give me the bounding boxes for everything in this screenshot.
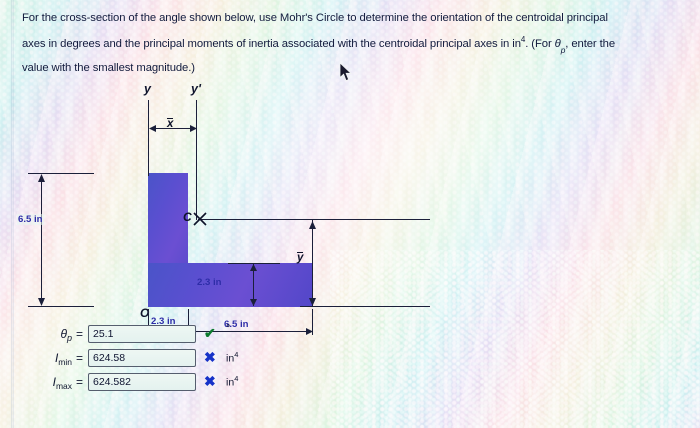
equals-sign-theta: = xyxy=(76,327,83,341)
flange-thickness-arrows xyxy=(247,263,260,307)
i-min-subscript: min xyxy=(58,357,72,367)
mouse-cursor-icon xyxy=(339,62,353,82)
theta-p-correct-icon: ✔ xyxy=(204,324,216,343)
i-max-unit-text: in xyxy=(226,377,234,389)
screenshot-root: For the cross-section of the angle shown… xyxy=(0,0,700,428)
question-line-2-text-b: . (For xyxy=(525,38,554,50)
answer-row-theta-p: θp = ✔ ° xyxy=(30,325,330,349)
i-min-incorrect-icon: ✖ xyxy=(204,348,216,367)
angle-cross-section-figure: y y' x 6.5 in O xyxy=(0,78,430,308)
xbar-label-text: x xyxy=(167,118,173,130)
angle-horizontal-leg xyxy=(148,263,312,307)
answer-label-i-max: Imax xyxy=(30,375,72,389)
ybar-dimension-arrows xyxy=(306,220,319,307)
question-theta-subscript: p xyxy=(561,45,566,55)
y-prime-axis-label: y' xyxy=(191,82,201,96)
theta-p-unit: ° xyxy=(226,323,230,335)
question-line-1: For the cross-section of the angle shown… xyxy=(22,8,690,29)
i-min-unit: in4 xyxy=(226,350,238,365)
xbar-label: x xyxy=(167,118,173,130)
ybar-label: y xyxy=(297,252,303,264)
centroid-cross-marker xyxy=(192,209,210,229)
height-dimension-label: 6.5 in xyxy=(17,214,44,225)
i-min-input[interactable] xyxy=(88,349,196,367)
answer-row-i-min: Imin = ✖ in4 xyxy=(30,349,330,373)
y-prime-axis-line xyxy=(196,100,197,220)
question-line-1-text: For the cross-section of the angle shown… xyxy=(22,12,608,24)
i-max-incorrect-icon: ✖ xyxy=(204,372,216,391)
equals-sign-i-min: = xyxy=(76,351,83,365)
height-dimension-arrows xyxy=(35,173,48,307)
y-axis-label: y xyxy=(144,82,151,96)
question-statement: For the cross-section of the angle shown… xyxy=(22,8,690,79)
theta-p-input[interactable] xyxy=(88,325,196,343)
question-line-2-text-a: axes in degrees and the principal moment… xyxy=(22,38,521,50)
i-max-input[interactable] xyxy=(88,373,196,391)
centroid-label: C xyxy=(183,210,192,224)
i-max-unit-exponent: 4 xyxy=(234,374,238,383)
answer-row-i-max: Imax = ✖ in4 xyxy=(30,373,330,397)
theta-subscript: p xyxy=(67,333,72,343)
equals-sign-i-max: = xyxy=(76,375,83,389)
i-max-subscript: max xyxy=(56,381,72,391)
base-extension-line xyxy=(300,306,430,307)
y-axis-line xyxy=(148,100,149,176)
ybar-label-text: y xyxy=(297,252,303,264)
flange-thickness-label: 2.3 in xyxy=(197,277,222,288)
i-min-unit-exponent: 4 xyxy=(234,350,238,359)
i-min-unit-text: in xyxy=(226,353,234,365)
answer-label-i-min: Imin xyxy=(30,351,72,365)
question-theta-symbol: θ xyxy=(555,38,561,50)
answer-label-theta-p: θp xyxy=(30,327,72,341)
i-max-unit: in4 xyxy=(226,374,238,389)
answer-fields: θp = ✔ ° Imin = ✖ in4 Imax = ✖ in4 xyxy=(30,325,330,397)
question-line-3-text: value with the smallest magnitude.) xyxy=(22,62,195,74)
question-line-3: value with the smallest magnitude.) xyxy=(22,58,690,79)
question-line-2: axes in degrees and the principal moment… xyxy=(22,29,690,58)
theta-symbol: θ xyxy=(60,327,67,341)
question-line-2-text-c: , enter the xyxy=(565,38,615,50)
